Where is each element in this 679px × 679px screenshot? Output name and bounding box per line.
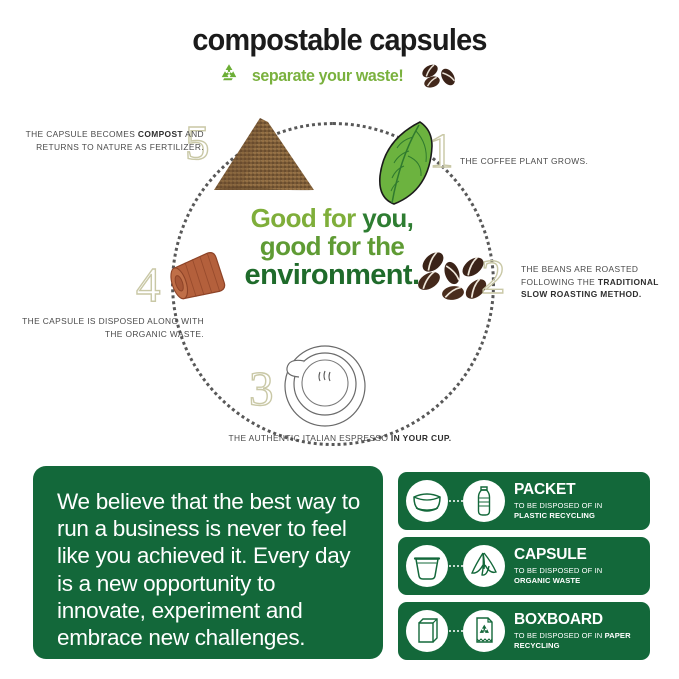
espresso-cup-icon <box>277 338 369 435</box>
step-caption-3: THE AUTHENTIC ITALIAN ESPRESSO IN YOUR C… <box>190 432 490 445</box>
dash-connector <box>448 565 463 567</box>
center-slogan: Good for you, good for the environment. <box>232 205 432 291</box>
coffee-beans-icon <box>419 63 461 89</box>
box-icon <box>406 610 448 652</box>
quote-text: We believe that the best way to run a bu… <box>57 488 363 651</box>
header: compostable capsules separate your waste… <box>0 24 679 89</box>
card-sub-lead: TO BE DISPOSED OF IN <box>514 631 605 640</box>
card-title: CAPSULE <box>514 546 587 563</box>
step3-lead: THE AUTHENTIC ITALIAN ESPRESSO <box>229 433 391 443</box>
disposal-card-capsule[interactable]: CAPSULE TO BE DISPOSED OF IN ORGANIC WAS… <box>398 537 650 595</box>
disposal-card-boxboard[interactable]: BOXBOARD TO BE DISPOSED OF IN PAPER RECY… <box>398 602 650 660</box>
card-subtitle: TO BE DISPOSED OF IN ORGANIC WASTE <box>514 566 602 587</box>
step-caption-2: THE BEANS ARE ROASTED FOLLOWING THE TRAD… <box>521 263 671 301</box>
quote-panel: We believe that the best way to run a bu… <box>33 466 383 659</box>
step-caption-4: THE CAPSULE IS DISPOSED ALONG WITH THE O… <box>14 315 204 340</box>
card-sub-bold: PLASTIC RECYCLING <box>514 511 595 520</box>
slogan-line1-a: Good for <box>251 203 363 233</box>
step5-lead: THE CAPSULE BECOMES <box>26 129 138 139</box>
banana-peel-icon <box>463 545 505 587</box>
step-number-3: 3 <box>249 364 274 413</box>
step-number-4: 4 <box>136 260 161 309</box>
card-text: BOXBOARD TO BE DISPOSED OF IN PAPER RECY… <box>514 611 650 652</box>
card-text: CAPSULE TO BE DISPOSED OF IN ORGANIC WAS… <box>514 546 602 587</box>
disposal-card-packet[interactable]: PACKET TO BE DISPOSED OF IN PLASTIC RECY… <box>398 472 650 530</box>
capsule-icon <box>165 252 227 313</box>
card-sub-bold: ORGANIC WASTE <box>514 576 580 585</box>
card-text: PACKET TO BE DISPOSED OF IN PLASTIC RECY… <box>514 481 602 522</box>
card-subtitle: TO BE DISPOSED OF IN PAPER RECYCLING <box>514 631 650 652</box>
step-number-1: 1 <box>429 126 454 175</box>
subtitle-text: separate your waste! <box>252 66 403 86</box>
card-sub-lead: TO BE DISPOSED OF IN <box>514 566 602 575</box>
capsule-icon <box>406 545 448 587</box>
step3-bold: IN YOUR CUP. <box>391 433 452 443</box>
recycled-paper-icon <box>463 610 505 652</box>
step4-lead: THE CAPSULE IS DISPOSED ALONG WITH THE O… <box>22 316 204 339</box>
step5-bold: COMPOST <box>138 129 183 139</box>
slogan-line2: good for the <box>232 233 432 261</box>
step-caption-1: THE COFFEE PLANT GROWS. <box>460 155 650 168</box>
slogan-line3: environment. <box>232 260 432 291</box>
subtitle-row: separate your waste! <box>0 62 679 89</box>
step1-lead: THE COFFEE PLANT GROWS. <box>460 156 588 166</box>
card-title: PACKET <box>514 481 575 498</box>
dash-connector <box>448 630 463 632</box>
lifecycle-diagram: Good for you, good for the environment. … <box>0 100 679 460</box>
compost-pile-icon <box>210 112 320 199</box>
page-title: compostable capsules <box>24 24 655 55</box>
dash-connector <box>448 500 463 502</box>
recycle-icon <box>218 62 240 89</box>
step-number-2: 2 <box>481 252 506 301</box>
packet-icon <box>406 480 448 522</box>
step-caption-5: THE CAPSULE BECOMES COMPOST AND RETURNS … <box>14 128 204 153</box>
card-subtitle: TO BE DISPOSED OF IN PLASTIC RECYCLING <box>514 501 602 522</box>
card-title: BOXBOARD <box>514 611 603 628</box>
card-sub-lead: TO BE DISPOSED OF IN <box>514 501 602 510</box>
plastic-bottle-icon <box>463 480 505 522</box>
